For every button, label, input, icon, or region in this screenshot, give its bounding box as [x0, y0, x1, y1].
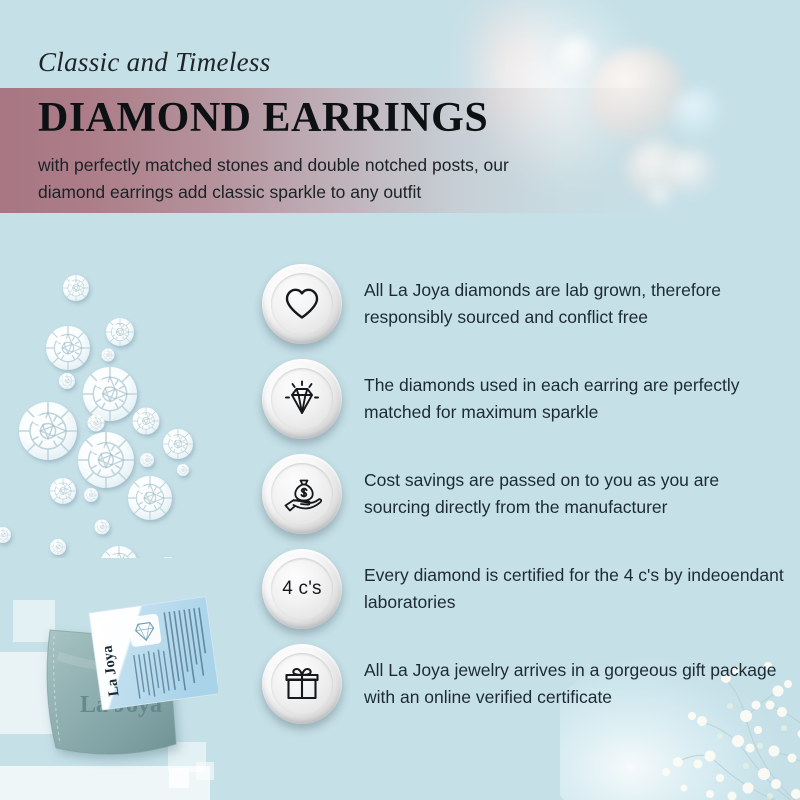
pouch-svg: La Joya [18, 596, 218, 776]
page-subtitle: with perfectly matched stones and double… [38, 152, 558, 205]
list-item: The diamonds used in each earring are pe… [262, 351, 792, 446]
feature-text: The diamonds used in each earring are pe… [364, 372, 784, 425]
gem-group [0, 275, 193, 558]
feature-text: All La Joya diamonds are lab grown, ther… [364, 277, 784, 330]
heart-icon [262, 264, 342, 344]
diamond-cluster-svg [0, 248, 260, 558]
feature-text: All La Joya jewelry arrives in a gorgeou… [364, 657, 784, 710]
diamond-cluster [0, 248, 260, 558]
four-cs-text-badge: 4 c's [282, 578, 321, 600]
list-item: 4 c's Every diamond is certified for the… [262, 541, 792, 636]
product-pouch-image: La Joya [18, 596, 218, 776]
list-item: Cost savings are passed on to you as you… [262, 446, 792, 541]
feature-badge[interactable] [262, 264, 342, 344]
diamond-sparkle-icon [262, 359, 342, 439]
certificate-card: La Joya [89, 597, 218, 710]
money-bag-hand-icon [262, 454, 342, 534]
feature-text: Every diamond is certified for the 4 c's… [364, 562, 784, 615]
feature-badge[interactable] [262, 359, 342, 439]
feature-badge[interactable] [262, 644, 342, 724]
eyebrow-tagline: Classic and Timeless [38, 49, 271, 76]
feature-badge[interactable] [262, 454, 342, 534]
feature-list: All La Joya diamonds are lab grown, ther… [262, 256, 792, 731]
product-infographic-poster: Classic and Timeless DIAMOND EARRINGS wi… [0, 0, 800, 800]
list-item: All La Joya diamonds are lab grown, ther… [262, 256, 792, 351]
gift-box-icon [262, 644, 342, 724]
list-item: All La Joya jewelry arrives in a gorgeou… [262, 636, 792, 731]
bokeh-light-icon [556, 36, 598, 78]
page-title: DIAMOND EARRINGS [38, 97, 488, 139]
feature-badge[interactable]: 4 c's [262, 549, 342, 629]
feature-text: Cost savings are passed on to you as you… [364, 467, 784, 520]
